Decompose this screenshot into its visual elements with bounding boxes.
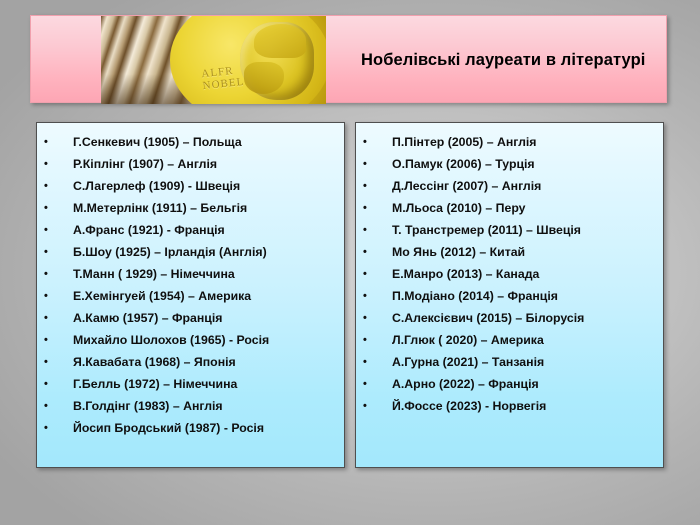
list-item: Д.Лессінг (2007) – Англія bbox=[362, 175, 657, 197]
list-item: Й.Фоссе (2023) - Норвегія bbox=[362, 395, 657, 417]
list-item: П.Модіано (2014) – Франція bbox=[362, 285, 657, 307]
list-item: С.Лагерлеф (1909) - Швеція bbox=[43, 175, 338, 197]
left-laureate-list: Г.Сенкевич (1905) – Польща Р.Кіплінг (19… bbox=[43, 131, 338, 439]
right-column-panel: П.Пінтер (2005) – Англія О.Памук (2006) … bbox=[355, 122, 664, 468]
list-item: Б.Шоу (1925) – Ірландія (Англія) bbox=[43, 241, 338, 263]
page-title: Нобелівські лауреати в літературі bbox=[361, 16, 646, 104]
list-item: П.Пінтер (2005) – Англія bbox=[362, 131, 657, 153]
list-item: Михайло Шолохов (1965) - Росія bbox=[43, 329, 338, 351]
list-item: Т. Транстремер (2011) – Швеція bbox=[362, 219, 657, 241]
list-item: Л.Глюк ( 2020) – Америка bbox=[362, 329, 657, 351]
list-item: Г.Сенкевич (1905) – Польща bbox=[43, 131, 338, 153]
list-item: Я.Кавабата (1968) – Японія bbox=[43, 351, 338, 373]
list-item: А.Арно (2022) – Франція bbox=[362, 373, 657, 395]
nobel-medal-image: ALFR NOBEL bbox=[196, 16, 326, 104]
list-item: Мо Янь (2012) – Китай bbox=[362, 241, 657, 263]
list-item: Е.Хемінгуей (1954) – Америка bbox=[43, 285, 338, 307]
left-column-panel: Г.Сенкевич (1905) – Польща Р.Кіплінг (19… bbox=[36, 122, 345, 468]
header-banner: ALFR NOBEL Нобелівські лауреати в літера… bbox=[30, 15, 667, 103]
nobel-medal-and-books-photo: ALFR NOBEL bbox=[101, 16, 326, 104]
list-item: М.Льоса (2010) – Перу bbox=[362, 197, 657, 219]
medal-inscription: ALFR NOBEL bbox=[201, 64, 245, 92]
list-item: С.Алексієвич (2015) – Білорусія bbox=[362, 307, 657, 329]
list-item: А.Камю (1957) – Франція bbox=[43, 307, 338, 329]
list-item: А.Гурна (2021) – Танзанія bbox=[362, 351, 657, 373]
list-item: Г.Белль (1972) – Німеччина bbox=[43, 373, 338, 395]
list-item: М.Метерлінк (1911) – Бельгія bbox=[43, 197, 338, 219]
list-item: О.Памук (2006) – Турція bbox=[362, 153, 657, 175]
list-item: В.Голдінг (1983) – Англія bbox=[43, 395, 338, 417]
list-item: А.Франс (1921) - Франція bbox=[43, 219, 338, 241]
right-laureate-list: П.Пінтер (2005) – Англія О.Памук (2006) … bbox=[362, 131, 657, 417]
list-item: Т.Манн ( 1929) – Німеччина bbox=[43, 263, 338, 285]
medal-portrait-hair bbox=[254, 24, 306, 58]
list-item: Р.Кіплінг (1907) – Англія bbox=[43, 153, 338, 175]
list-item: Е.Манро (2013) – Канада bbox=[362, 263, 657, 285]
list-item: Йосип Бродський (1987) - Росія bbox=[43, 417, 338, 439]
slide-canvas: ALFR NOBEL Нобелівські лауреати в літера… bbox=[0, 0, 700, 525]
